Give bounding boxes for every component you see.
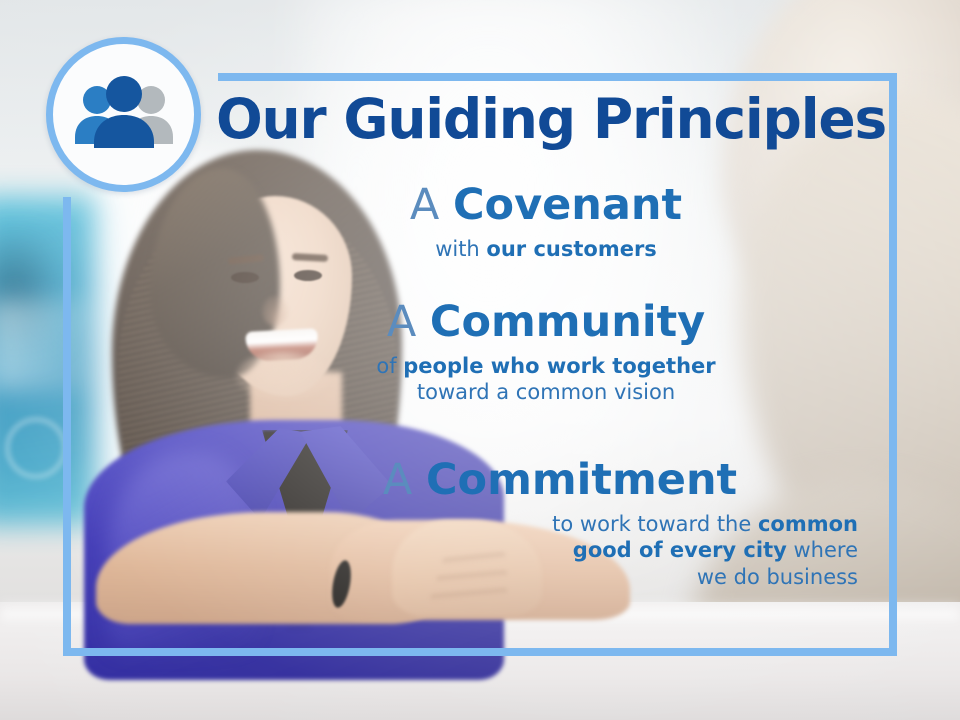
- principle-sub-line: we do business: [216, 564, 858, 591]
- plain-text: toward a common vision: [417, 380, 675, 404]
- principle-lead-commitment: A Commitment: [216, 458, 876, 504]
- frame-border-bottom: [63, 648, 897, 656]
- principle-article: A: [410, 180, 439, 230]
- emphasis-text: our customers: [486, 237, 656, 261]
- frame-border-top: [218, 73, 897, 81]
- principle-sub-line: of people who work together: [216, 353, 876, 380]
- blurred-vehicle-logo: [6, 418, 66, 478]
- plain-text: with: [435, 237, 486, 261]
- principle-article: A: [383, 455, 412, 505]
- principle-sub-line: good of every city where: [216, 537, 858, 564]
- principle-lead-community: A Community: [216, 300, 876, 346]
- emphasis-text: people who work together: [403, 354, 715, 378]
- principle-keyword: Covenant: [453, 180, 682, 230]
- frame-border-right: [889, 73, 897, 656]
- plain-text: we do business: [697, 565, 858, 589]
- principle-block-covenant: A Covenant with our customers: [216, 183, 876, 262]
- plain-text: to work toward the: [552, 512, 758, 536]
- people-group-icon: [72, 74, 176, 156]
- banner-canvas: FLOW FLOW: [0, 0, 960, 720]
- principle-sub-commitment: to work toward the commongood of every c…: [216, 511, 876, 592]
- page-title: Our Guiding Principles: [216, 92, 876, 147]
- principle-sub-community: of people who work togethertoward a comm…: [216, 353, 876, 407]
- emphasis-text: good of every city: [573, 538, 787, 562]
- frame-border-left: [63, 197, 71, 656]
- employee-eye-left: [231, 272, 259, 283]
- emphasis-text: common: [758, 512, 858, 536]
- principle-block-commitment: A Commitment to work toward the commongo…: [216, 458, 876, 591]
- employee-eye-right: [294, 270, 322, 281]
- plain-text: of: [376, 354, 403, 378]
- principle-lead-covenant: A Covenant: [216, 183, 876, 229]
- people-group-badge: [46, 37, 201, 192]
- principle-keyword: Community: [430, 297, 705, 347]
- principle-keyword: Commitment: [426, 455, 737, 505]
- principle-sub-covenant: with our customers: [216, 236, 876, 263]
- principle-sub-line: toward a common vision: [216, 379, 876, 406]
- principle-sub-line: with our customers: [216, 236, 876, 263]
- principle-sub-line: to work toward the common: [216, 511, 858, 538]
- principle-article: A: [387, 297, 416, 347]
- plain-text: where: [787, 538, 858, 562]
- principle-block-community: A Community of people who work togethert…: [216, 300, 876, 406]
